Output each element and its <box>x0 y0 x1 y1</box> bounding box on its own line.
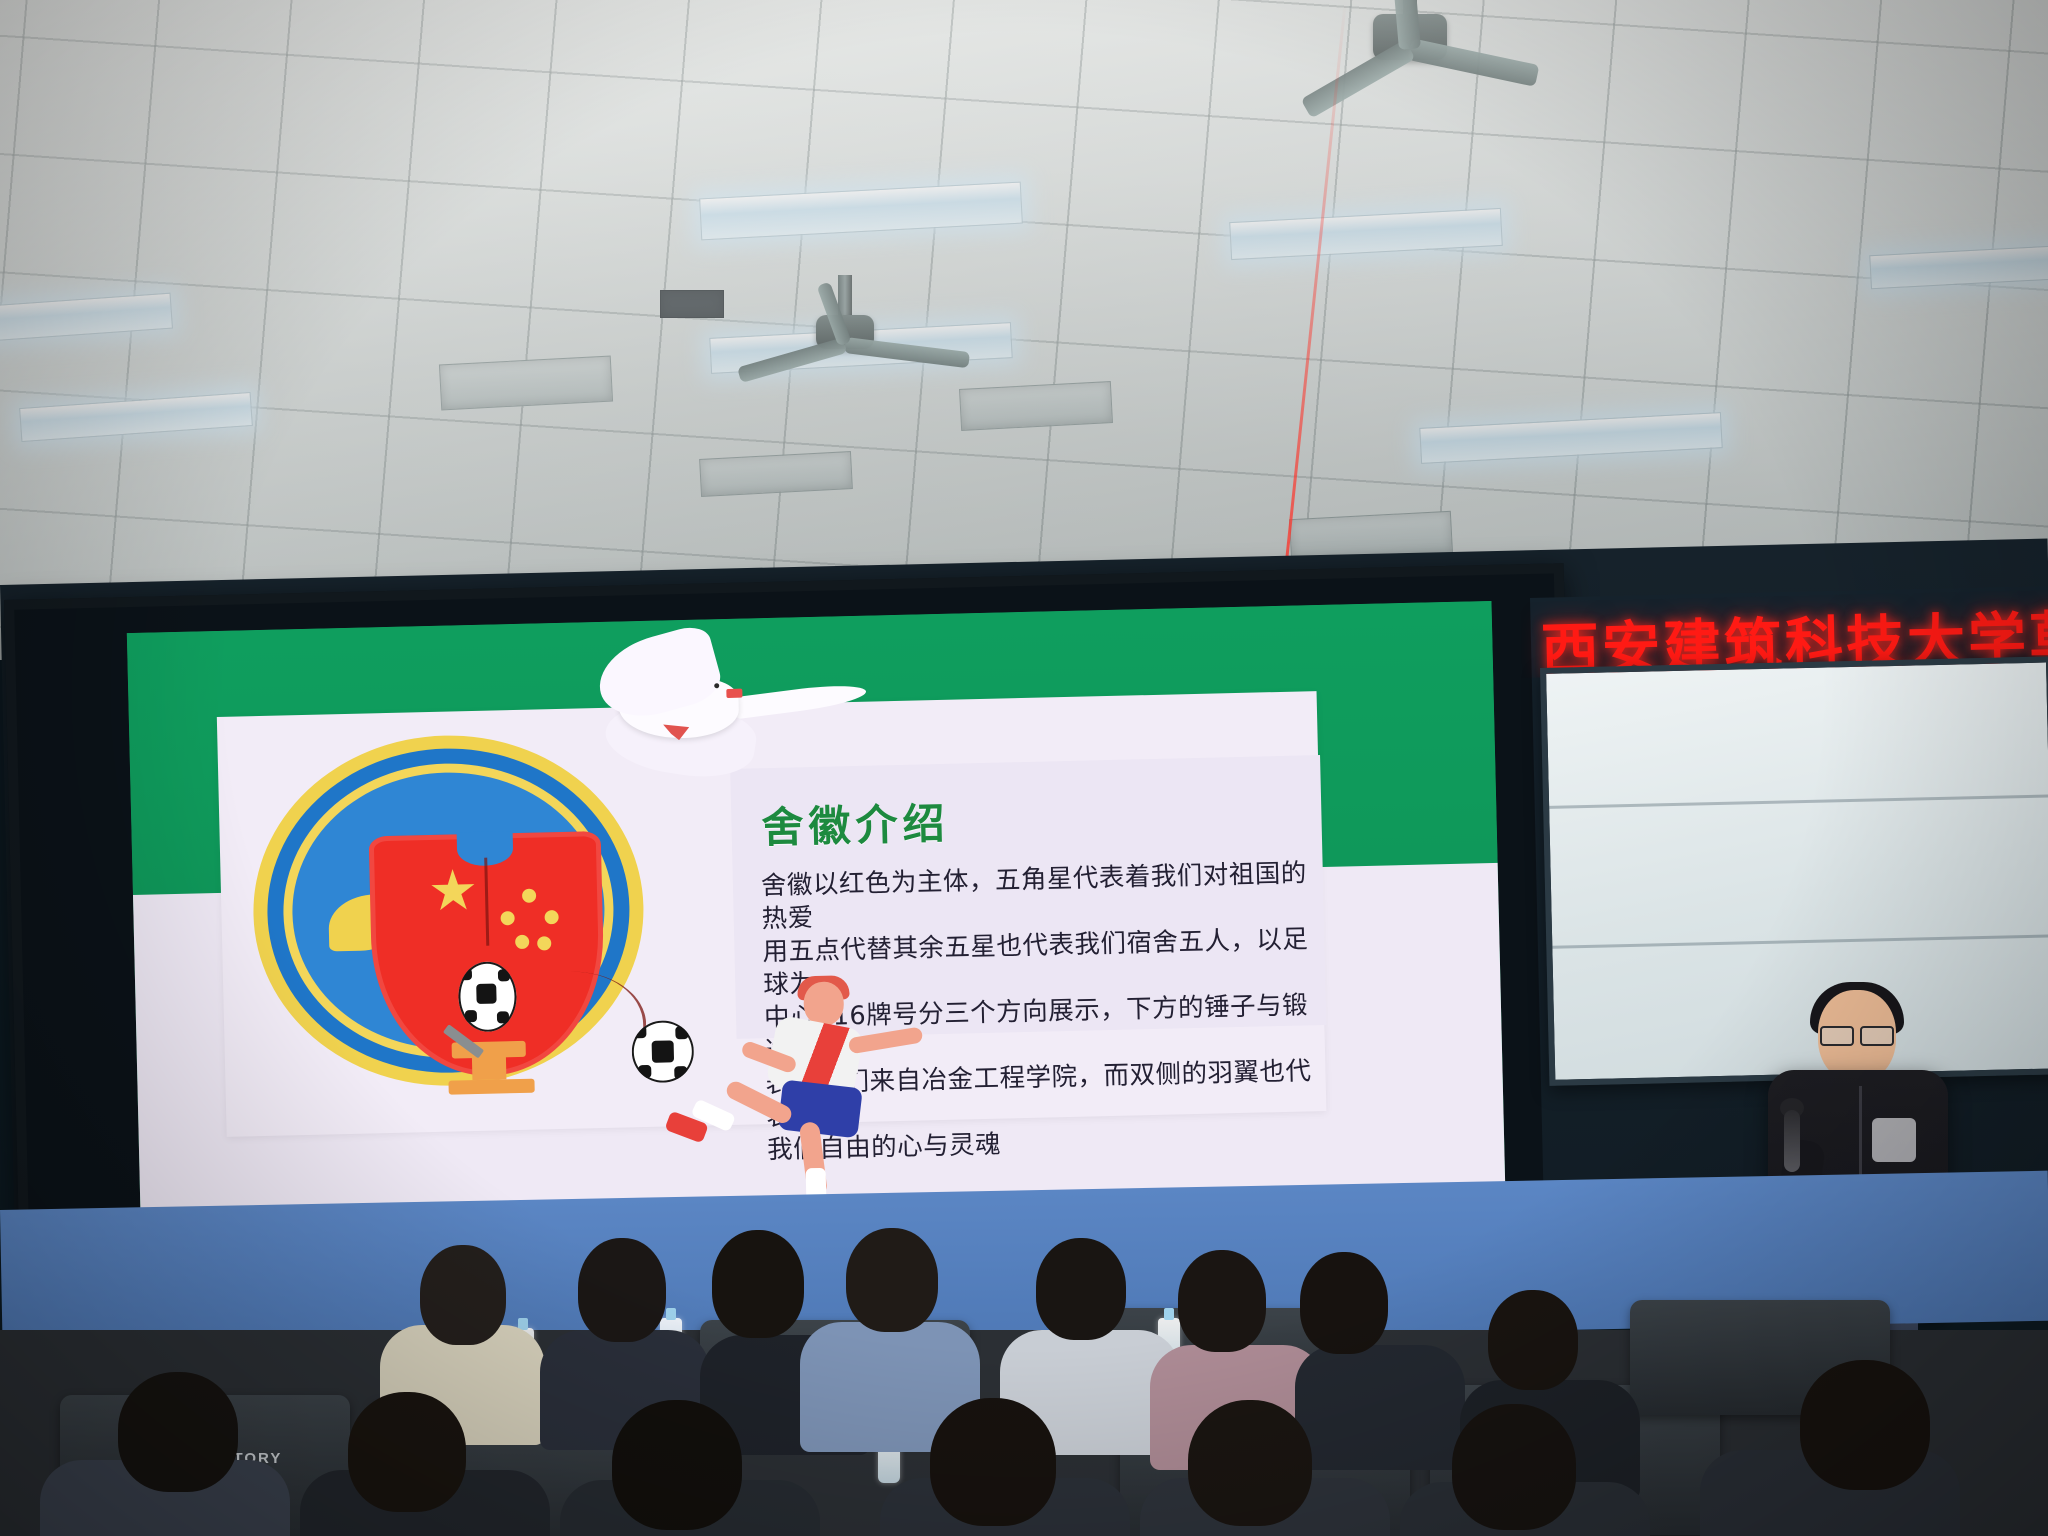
dot-icon <box>537 936 551 950</box>
player-arm-right <box>848 1026 924 1054</box>
dot-icon <box>515 935 529 949</box>
dot-icon <box>500 911 514 925</box>
ball-pentagon <box>652 1040 675 1063</box>
ball-pentagon <box>498 969 510 981</box>
emblem-swoosh-line <box>522 970 647 1063</box>
audience-member-head <box>348 1392 466 1512</box>
soccer-ball-icon <box>458 961 518 1032</box>
presentation-slide: ★ <box>127 601 1506 1253</box>
audience-member-head <box>930 1398 1056 1526</box>
audience-member-head <box>1800 1360 1930 1490</box>
whiteboard-divider <box>1552 934 2048 948</box>
anvil-base <box>448 1079 534 1095</box>
audience-member-head <box>1452 1404 1576 1530</box>
audience-member-head <box>1036 1238 1126 1340</box>
dormitory-emblem: ★ <box>249 731 647 1090</box>
microphone <box>1784 1110 1800 1172</box>
dot-icon <box>544 910 558 924</box>
audience-member-head <box>846 1228 938 1332</box>
audience-member-shoulders <box>1295 1345 1465 1470</box>
whiteboard-divider <box>1549 794 2048 808</box>
ball-pentagon <box>465 1010 477 1022</box>
anvil-icon <box>447 1037 534 1095</box>
jacket-logo <box>1872 1118 1916 1162</box>
dove-eye <box>714 683 719 688</box>
five-dots-group <box>496 888 572 964</box>
audience-member-head <box>1178 1250 1266 1352</box>
audience-member-head <box>612 1400 742 1530</box>
ball-pentagon <box>633 1025 646 1038</box>
ball-pentagon <box>497 1011 509 1023</box>
ball-pentagon <box>674 1066 687 1079</box>
audience-member-head <box>712 1230 804 1338</box>
shield-divider-line <box>484 858 489 946</box>
audience-member-head <box>1488 1290 1578 1390</box>
audience-member-head <box>578 1238 666 1342</box>
dove-icon <box>557 634 870 781</box>
ball-pentagon <box>638 1065 651 1078</box>
soccer-ball-graphic <box>631 1020 694 1083</box>
soccer-player-graphic <box>695 969 941 1215</box>
ball-pentagon <box>460 968 472 980</box>
emblem-shield: ★ <box>369 831 607 1078</box>
audience-member-head <box>118 1372 238 1492</box>
ball-pentagon <box>675 1026 688 1039</box>
audience-member-head <box>1300 1252 1388 1354</box>
audience-member-head <box>420 1245 506 1345</box>
slide-title: 舍徽介绍 <box>761 790 950 855</box>
lecture-hall-scene: ★ <box>0 0 2048 1536</box>
dove-tail <box>726 680 868 720</box>
dove-beak <box>726 689 742 698</box>
dot-icon <box>522 889 536 903</box>
ball-pentagon <box>476 984 496 1004</box>
audience-member-head <box>1188 1400 1312 1526</box>
glasses-icon <box>1820 1026 1894 1042</box>
anvil-body <box>472 1055 507 1080</box>
